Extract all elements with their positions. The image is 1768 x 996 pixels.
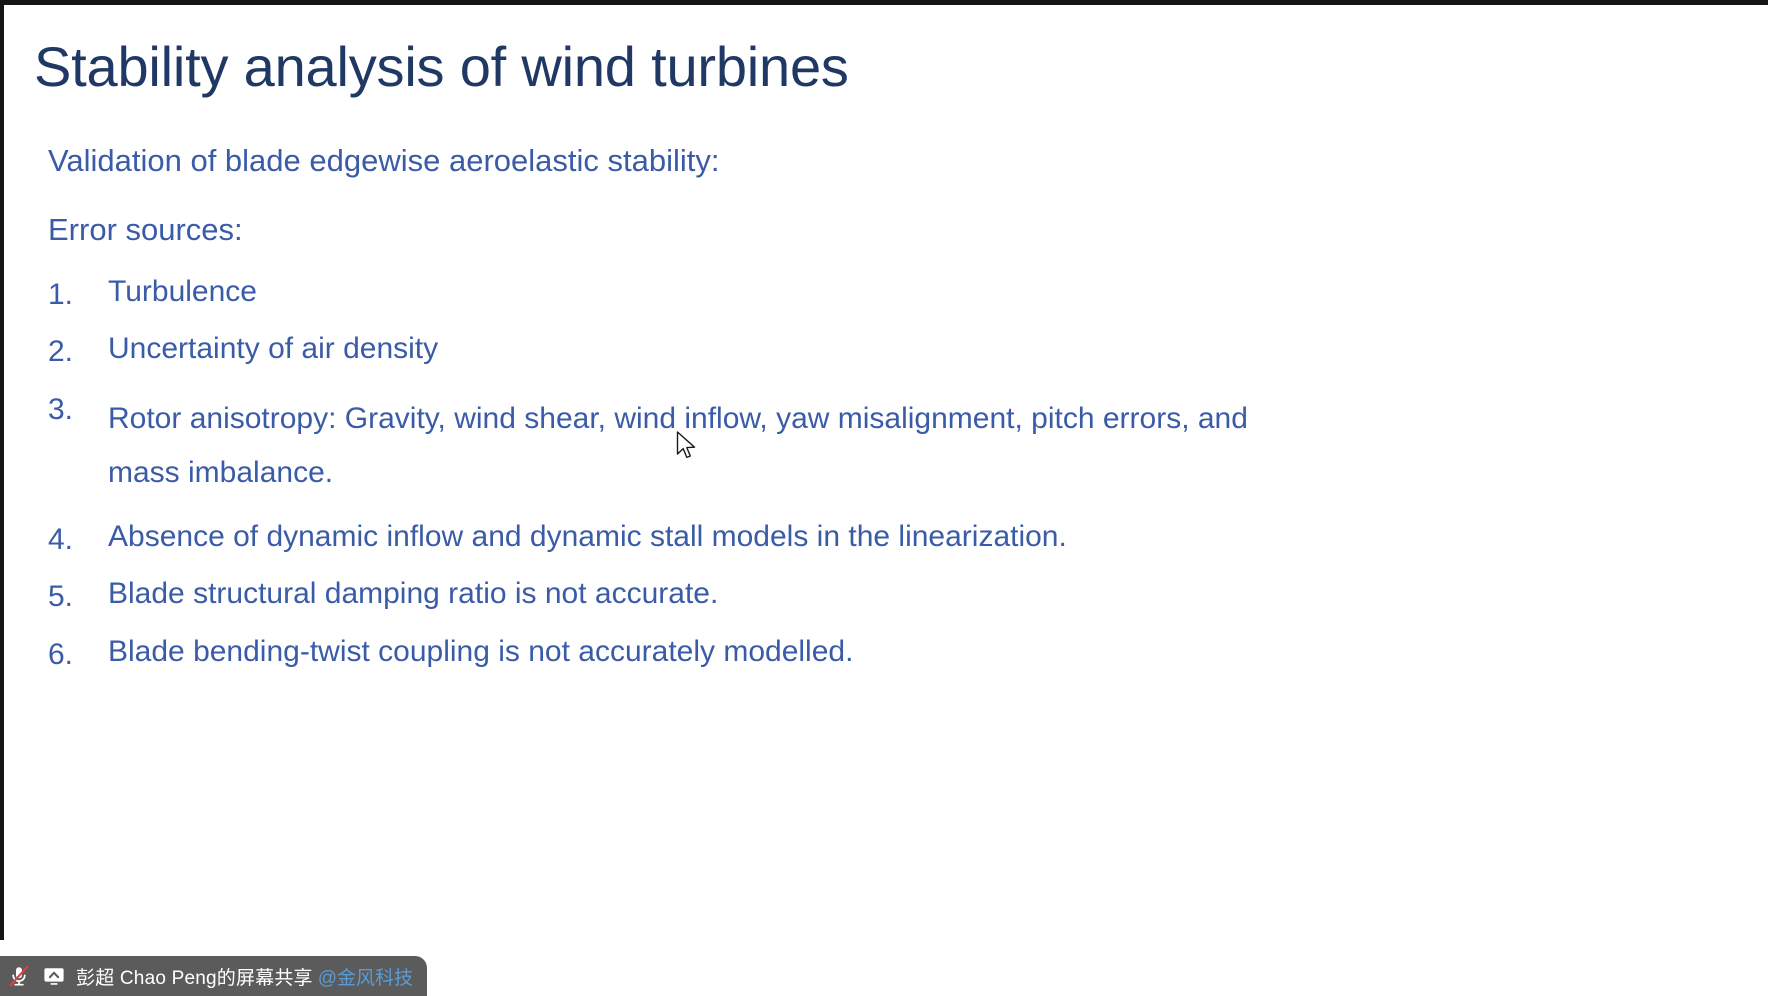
share-organization-label: @金风科技 bbox=[318, 963, 413, 990]
list-item-number: 5. bbox=[48, 579, 108, 614]
error-sources-label: Error sources: bbox=[48, 214, 1738, 245]
list-item-text: Blade structural damping ratio is not ac… bbox=[108, 579, 1288, 609]
screen-share-status-bar[interactable]: 彭超 Chao Peng的屏幕共享 @金风科技 bbox=[0, 956, 427, 996]
list-item: 6. Blade bending-twist coupling is not a… bbox=[48, 637, 1738, 672]
screen-share-icon[interactable] bbox=[41, 963, 67, 989]
list-item-text: Absence of dynamic inflow and dynamic st… bbox=[108, 522, 1288, 552]
presentation-slide: Stability analysis of wind turbines Vali… bbox=[4, 5, 1768, 940]
slide-body: Validation of blade edgewise aeroelastic… bbox=[48, 145, 1738, 694]
microphone-muted-icon[interactable] bbox=[6, 963, 32, 989]
error-sources-list: 1. Turbulence 2. Uncertainty of air dens… bbox=[48, 277, 1738, 672]
list-item-text: Blade bending-twist coupling is not accu… bbox=[108, 637, 1288, 667]
list-item: 2. Uncertainty of air density bbox=[48, 334, 1738, 369]
share-owner-label: 彭超 Chao Peng的屏幕共享 bbox=[76, 963, 313, 990]
list-item-number: 6. bbox=[48, 637, 108, 672]
shared-screen: Stability analysis of wind turbines Vali… bbox=[0, 0, 1768, 996]
list-item-number: 2. bbox=[48, 334, 108, 369]
list-item-text: Rotor anisotropy: Gravity, wind shear, w… bbox=[108, 392, 1288, 500]
list-item-number: 3. bbox=[48, 392, 108, 427]
list-item-text: Turbulence bbox=[108, 277, 1288, 307]
slide-lead-line: Validation of blade edgewise aeroelastic… bbox=[48, 145, 1738, 176]
list-item: 4. Absence of dynamic inflow and dynamic… bbox=[48, 522, 1738, 557]
list-item: 1. Turbulence bbox=[48, 277, 1738, 312]
list-item-text: Uncertainty of air density bbox=[108, 334, 1288, 364]
list-item-number: 4. bbox=[48, 522, 108, 557]
list-item: 3. Rotor anisotropy: Gravity, wind shear… bbox=[48, 392, 1738, 500]
list-item-number: 1. bbox=[48, 277, 108, 312]
list-item: 5. Blade structural damping ratio is not… bbox=[48, 579, 1738, 614]
slide-title: Stability analysis of wind turbines bbox=[34, 37, 849, 97]
